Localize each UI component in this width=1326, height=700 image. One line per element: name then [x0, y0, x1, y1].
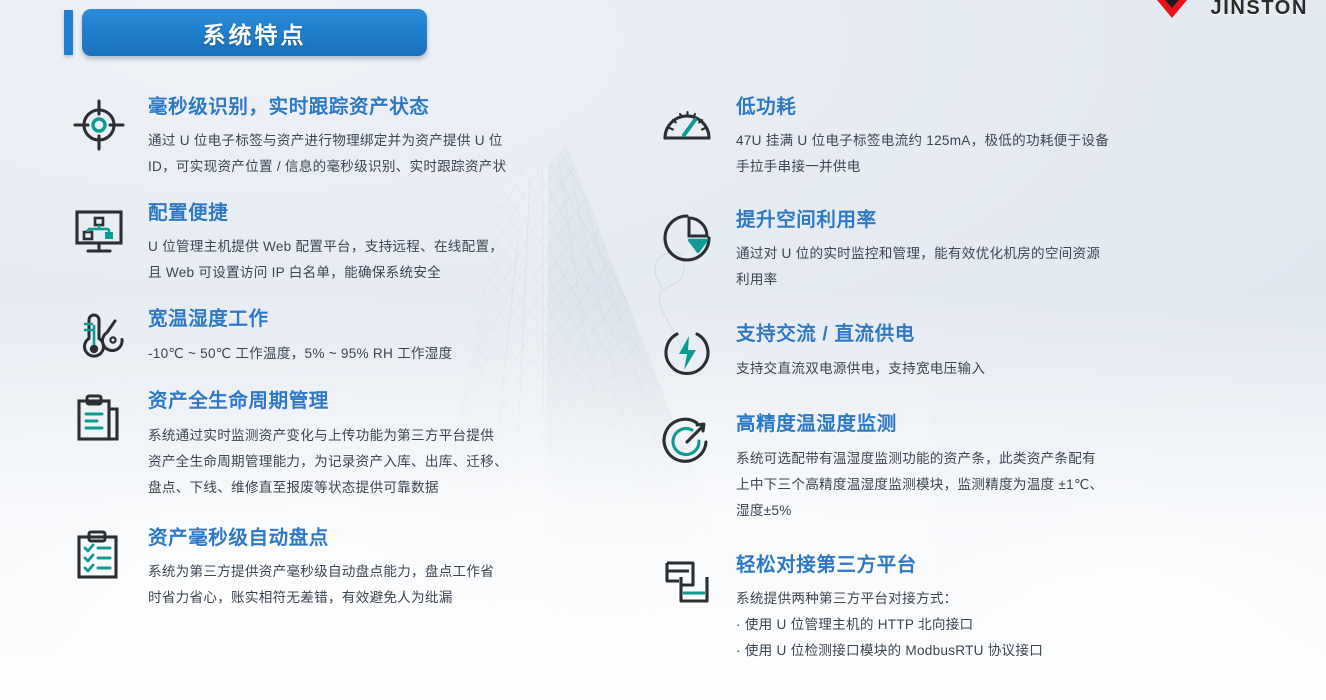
- page-title: 系统特点: [203, 16, 307, 50]
- feature-desc-line: 支持交直流双电源供电，支持宽电压输入: [736, 356, 985, 382]
- feature-title: 提升空间利用率: [736, 209, 1100, 232]
- brand-name: JINSTON: [1210, 0, 1308, 20]
- feature-text: 低功耗 47U 挂满 U 位电子标签电流约 125mA，极低的功耗便于设备 手拉…: [736, 94, 1109, 181]
- feature-item: 高精度温湿度监测 系统可选配带有温湿度监测功能的资产条，此类资产条配有 上中下三…: [648, 411, 1326, 524]
- clipboard-checklist-icon: [68, 525, 130, 587]
- feature-title: 资产全生命周期管理: [148, 390, 508, 413]
- feature-desc-line: 时省力省心，账实相符无差错，有效避免人为纰漏: [148, 585, 494, 611]
- feature-text: 提升空间利用率 通过对 U 位的实时监控和管理，能有效优化机房的空间资源 利用率: [736, 207, 1100, 294]
- feature-desc-line: 手拉手串接一并供电: [736, 154, 1109, 180]
- feature-text: 高精度温湿度监测 系统可选配带有温湿度监测功能的资产条，此类资产条配有 上中下三…: [736, 411, 1103, 524]
- pie-chart-icon: [656, 207, 718, 269]
- feature-item: 低功耗 47U 挂满 U 位电子标签电流约 125mA，极低的功耗便于设备 手拉…: [648, 94, 1326, 181]
- feature-text: 资产毫秒级自动盘点 系统为第三方提供资产毫秒级自动盘点能力，盘点工作省 时省力省…: [148, 525, 494, 612]
- feature-desc-line: 通过对 U 位的实时监控和管理，能有效优化机房的空间资源: [736, 241, 1100, 267]
- feature-desc-line: 通过 U 位电子标签与资产进行物理绑定并为资产提供 U 位: [148, 128, 506, 154]
- feature-desc-line: 且 Web 可设置访问 IP 白名单，能确保系统安全: [148, 260, 503, 286]
- feature-title: 低功耗: [736, 96, 1109, 119]
- feature-text: 资产全生命周期管理 系统通过实时监测资产变化与上传功能为第三方平台提供 资产全生…: [148, 388, 508, 501]
- feature-description: 通过 U 位电子标签与资产进行物理绑定并为资产提供 U 位 ID，可实现资产位置…: [148, 128, 506, 180]
- feature-desc-line: · 使用 U 位检测接口模块的 ModbusRTU 协议接口: [736, 638, 1043, 664]
- feature-desc-line: 上中下三个高精度温湿度监测模块，监测精度为温度 ±1℃、: [736, 472, 1103, 498]
- feature-title: 支持交流 / 直流供电: [736, 323, 985, 346]
- feature-desc-line: 盘点、下线、维修直至报废等状态提供可靠数据: [148, 475, 508, 501]
- brand-logo: JINSTON: [1143, 0, 1308, 28]
- feature-item: 支持交流 / 直流供电 支持交直流双电源供电，支持宽电压输入: [648, 321, 1326, 383]
- feature-desc-line: 47U 挂满 U 位电子标签电流约 125mA，极低的功耗便于设备: [736, 128, 1109, 154]
- thermometer-humidity-icon: [68, 306, 130, 368]
- feature-title: 宽温湿度工作: [148, 308, 452, 331]
- feature-text: 毫秒级识别，实时跟踪资产状态 通过 U 位电子标签与资产进行物理绑定并为资产提供…: [148, 94, 506, 181]
- feature-item: 宽温湿度工作 -10℃ ~ 50℃ 工作温度，5% ~ 95% RH 工作湿度: [34, 306, 648, 368]
- feature-desc-line: 利用率: [736, 267, 1100, 293]
- features-column-left: 毫秒级识别，实时跟踪资产状态 通过 U 位电子标签与资产进行物理绑定并为资产提供…: [0, 86, 648, 700]
- chevron-logo-mark-icon: [1143, 0, 1201, 28]
- feature-desc-line: 系统通过实时监测资产变化与上传功能为第三方平台提供: [148, 423, 508, 449]
- feature-desc-line: · 使用 U 位管理主机的 HTTP 北向接口: [736, 612, 1043, 638]
- feature-desc-line: 资产全生命周期管理能力，为记录资产入库、出库、迁移、: [148, 449, 508, 475]
- feature-item: 毫秒级识别，实时跟踪资产状态 通过 U 位电子标签与资产进行物理绑定并为资产提供…: [34, 94, 648, 181]
- feature-item: 资产全生命周期管理 系统通过实时监测资产变化与上传功能为第三方平台提供 资产全生…: [34, 388, 648, 501]
- crosshair-target-icon: [68, 94, 130, 156]
- feature-text: 轻松对接第三方平台 系统提供两种第三方平台对接方式： · 使用 U 位管理主机的…: [736, 552, 1043, 665]
- target-arrow-icon: [656, 411, 718, 473]
- title-accent-bar: [64, 10, 73, 55]
- feature-desc-line: 系统为第三方提供资产毫秒级自动盘点能力，盘点工作省: [148, 559, 494, 585]
- page-header: 系统特点: [0, 0, 1326, 78]
- feature-description: 支持交直流双电源供电，支持宽电压输入: [736, 356, 985, 382]
- feature-item: 轻松对接第三方平台 系统提供两种第三方平台对接方式： · 使用 U 位管理主机的…: [648, 552, 1326, 665]
- section-title-pill: 系统特点: [82, 9, 427, 56]
- feature-title: 毫秒级识别，实时跟踪资产状态: [148, 96, 506, 119]
- feature-description: 系统提供两种第三方平台对接方式： · 使用 U 位管理主机的 HTTP 北向接口…: [736, 586, 1043, 664]
- feature-description: 通过对 U 位的实时监控和管理，能有效优化机房的空间资源 利用率: [736, 241, 1100, 293]
- feature-description: U 位管理主机提供 Web 配置平台，支持远程、在线配置， 且 Web 可设置访…: [148, 234, 503, 286]
- feature-text: 支持交流 / 直流供电 支持交直流双电源供电，支持宽电压输入: [736, 321, 985, 381]
- feature-description: -10℃ ~ 50℃ 工作温度，5% ~ 95% RH 工作湿度: [148, 341, 452, 367]
- feature-desc-line: ID，可实现资产位置 / 信息的毫秒级识别、实时跟踪资产状: [148, 154, 506, 180]
- feature-item: 资产毫秒级自动盘点 系统为第三方提供资产毫秒级自动盘点能力，盘点工作省 时省力省…: [34, 525, 648, 612]
- feature-description: 系统可选配带有温湿度监测功能的资产条，此类资产条配有 上中下三个高精度温湿度监测…: [736, 446, 1103, 524]
- feature-item: 提升空间利用率 通过对 U 位的实时监控和管理，能有效优化机房的空间资源 利用率: [648, 207, 1326, 294]
- feature-title: 轻松对接第三方平台: [736, 554, 1043, 577]
- clipboard-document-icon: [68, 388, 130, 450]
- feature-item: 配置便捷 U 位管理主机提供 Web 配置平台，支持远程、在线配置， 且 Web…: [34, 200, 648, 287]
- lightning-bolt-circle-icon: [656, 321, 718, 383]
- features-column-right: 低功耗 47U 挂满 U 位电子标签电流约 125mA，极低的功耗便于设备 手拉…: [648, 86, 1326, 700]
- interlocking-blocks-icon: [656, 552, 718, 614]
- feature-description: 47U 挂满 U 位电子标签电流约 125mA，极低的功耗便于设备 手拉手串接一…: [736, 128, 1109, 180]
- gauge-speedometer-icon: [656, 94, 718, 156]
- feature-title: 资产毫秒级自动盘点: [148, 527, 494, 550]
- features-grid: 毫秒级识别，实时跟踪资产状态 通过 U 位电子标签与资产进行物理绑定并为资产提供…: [0, 86, 1326, 700]
- feature-description: 系统为第三方提供资产毫秒级自动盘点能力，盘点工作省 时省力省心，账实相符无差错，…: [148, 559, 494, 611]
- section-title-group: 系统特点: [64, 9, 427, 56]
- feature-desc-line: 系统可选配带有温湿度监测功能的资产条，此类资产条配有: [736, 446, 1103, 472]
- monitor-network-icon: [68, 200, 130, 262]
- feature-text: 宽温湿度工作 -10℃ ~ 50℃ 工作温度，5% ~ 95% RH 工作湿度: [148, 306, 452, 366]
- feature-desc-line: 湿度±5%: [736, 498, 1103, 524]
- feature-desc-line: -10℃ ~ 50℃ 工作温度，5% ~ 95% RH 工作湿度: [148, 341, 452, 367]
- feature-text: 配置便捷 U 位管理主机提供 Web 配置平台，支持远程、在线配置， 且 Web…: [148, 200, 503, 287]
- feature-desc-line: 系统提供两种第三方平台对接方式：: [736, 586, 1043, 612]
- feature-desc-line: U 位管理主机提供 Web 配置平台，支持远程、在线配置，: [148, 234, 503, 260]
- feature-description: 系统通过实时监测资产变化与上传功能为第三方平台提供 资产全生命周期管理能力，为记…: [148, 423, 508, 501]
- feature-title: 配置便捷: [148, 202, 503, 225]
- feature-title: 高精度温湿度监测: [736, 413, 1103, 436]
